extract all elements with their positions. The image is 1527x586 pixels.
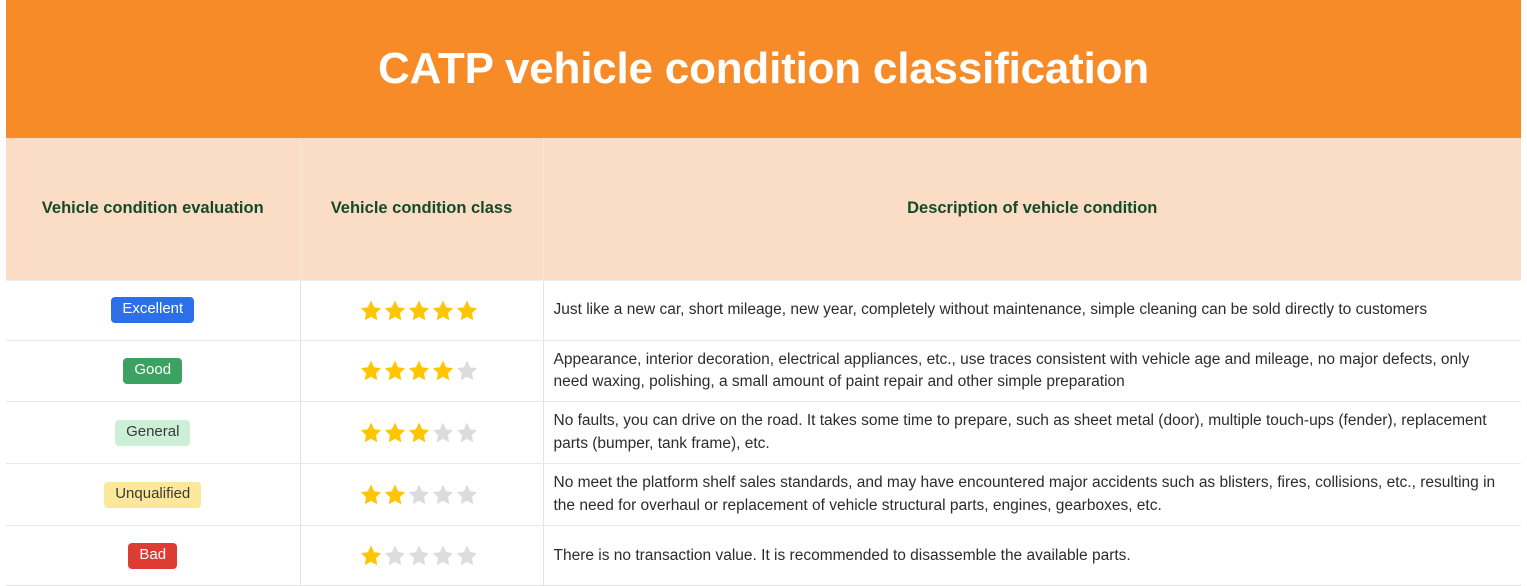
star-rating xyxy=(359,544,479,567)
star-filled-icon xyxy=(359,359,383,382)
star-filled-icon xyxy=(431,299,455,322)
column-header-evaluation: Vehicle condition evaluation xyxy=(6,138,300,280)
vehicle-condition-table: Vehicle condition evaluation Vehicle con… xyxy=(6,138,1521,586)
star-empty-icon xyxy=(431,544,455,567)
star-filled-icon xyxy=(383,483,407,506)
table-body: ExcellentJust like a new car, short mile… xyxy=(6,280,1521,586)
status-badge: Bad xyxy=(128,543,177,569)
title-banner: CATP vehicle condition classification xyxy=(6,0,1521,138)
star-filled-icon xyxy=(359,544,383,567)
star-rating xyxy=(359,359,479,382)
cell-evaluation: Excellent xyxy=(6,280,300,340)
cell-description: Appearance, interior decoration, electri… xyxy=(543,340,1521,402)
star-filled-icon xyxy=(383,299,407,322)
cell-class xyxy=(300,340,543,402)
column-header-class: Vehicle condition class xyxy=(300,138,543,280)
cell-evaluation: General xyxy=(6,402,300,464)
star-empty-icon xyxy=(455,421,479,444)
star-filled-icon xyxy=(431,359,455,382)
cell-description: No faults, you can drive on the road. It… xyxy=(543,402,1521,464)
status-badge: Unqualified xyxy=(104,482,201,508)
page-title: CATP vehicle condition classification xyxy=(378,45,1149,93)
cell-class xyxy=(300,280,543,340)
table-header-row: Vehicle condition evaluation Vehicle con… xyxy=(6,138,1521,280)
column-header-description: Description of vehicle condition xyxy=(543,138,1521,280)
description-text: There is no transaction value. It is rec… xyxy=(554,545,1508,567)
status-badge: Good xyxy=(123,358,182,384)
star-empty-icon xyxy=(455,544,479,567)
star-filled-icon xyxy=(383,421,407,444)
star-filled-icon xyxy=(407,299,431,322)
description-text: Just like a new car, short mileage, new … xyxy=(554,299,1508,321)
cell-class xyxy=(300,526,543,586)
star-rating xyxy=(359,421,479,444)
table-row: ExcellentJust like a new car, short mile… xyxy=(6,280,1521,340)
cell-evaluation: Bad xyxy=(6,526,300,586)
star-empty-icon xyxy=(407,483,431,506)
star-filled-icon xyxy=(407,421,431,444)
table-row: GoodAppearance, interior decoration, ele… xyxy=(6,340,1521,402)
star-filled-icon xyxy=(383,359,407,382)
description-text: No faults, you can drive on the road. It… xyxy=(554,410,1508,455)
star-filled-icon xyxy=(455,299,479,322)
star-rating xyxy=(359,483,479,506)
table-row: BadThere is no transaction value. It is … xyxy=(6,526,1521,586)
star-filled-icon xyxy=(359,299,383,322)
star-empty-icon xyxy=(455,359,479,382)
cell-description: Just like a new car, short mileage, new … xyxy=(543,280,1521,340)
table-header: Vehicle condition evaluation Vehicle con… xyxy=(6,138,1521,280)
star-rating xyxy=(359,299,479,322)
star-filled-icon xyxy=(359,421,383,444)
page-root: CATP vehicle condition classification Ve… xyxy=(0,0,1527,579)
star-empty-icon xyxy=(407,544,431,567)
cell-class xyxy=(300,464,543,526)
star-filled-icon xyxy=(359,483,383,506)
star-empty-icon xyxy=(383,544,407,567)
cell-description: No meet the platform shelf sales standar… xyxy=(543,464,1521,526)
star-empty-icon xyxy=(455,483,479,506)
star-empty-icon xyxy=(431,483,455,506)
status-badge: Excellent xyxy=(111,297,194,323)
status-badge: General xyxy=(115,420,190,446)
table-row: UnqualifiedNo meet the platform shelf sa… xyxy=(6,464,1521,526)
description-text: Appearance, interior decoration, electri… xyxy=(554,349,1508,394)
table-row: GeneralNo faults, you can drive on the r… xyxy=(6,402,1521,464)
cell-evaluation: Unqualified xyxy=(6,464,300,526)
cell-description: There is no transaction value. It is rec… xyxy=(543,526,1521,586)
cell-class xyxy=(300,402,543,464)
star-empty-icon xyxy=(431,421,455,444)
cell-evaluation: Good xyxy=(6,340,300,402)
description-text: No meet the platform shelf sales standar… xyxy=(554,472,1508,517)
star-filled-icon xyxy=(407,359,431,382)
